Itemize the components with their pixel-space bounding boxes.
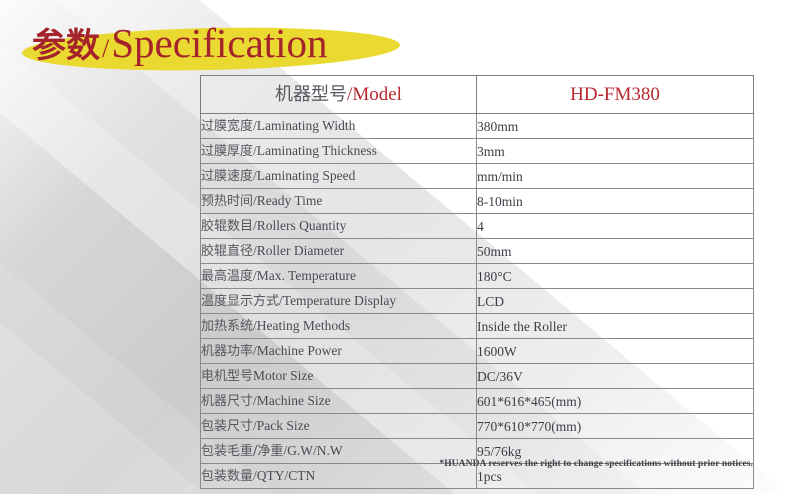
- table-header-row: 机器型号/Model HD-FM380: [201, 76, 754, 114]
- table-row-label-cell: 过膜厚度/Laminating Thickness: [201, 139, 477, 164]
- table-row-label-english: /Laminating Thickness: [253, 143, 377, 158]
- table-row-value-cell: 8-10min: [477, 189, 754, 214]
- table-row: 预热时间/Ready Time8-10min: [201, 189, 754, 214]
- table-row-label-english: /Temperature Display: [279, 293, 396, 308]
- table-row-label-english: /Max. Temperature: [253, 268, 356, 283]
- footnote-disclaimer: *HUANDA reserves the right to change spe…: [200, 459, 753, 469]
- table-row: 机器尺寸/Machine Size601*616*465(mm): [201, 389, 754, 414]
- table-row-label-english: /Roller Diameter: [253, 243, 344, 258]
- table-row: 过膜速度/Laminating Speedmm/min: [201, 164, 754, 189]
- table-row: 机器功率/Machine Power1600W: [201, 339, 754, 364]
- table-row-value-cell: 50mm: [477, 239, 754, 264]
- title-text-chinese: 参数: [32, 26, 100, 66]
- table-row-label-english: /Heating Methods: [253, 318, 350, 333]
- table-header-label-cell: 机器型号/Model: [201, 76, 477, 114]
- table-header-label-chinese: 机器型号: [275, 84, 347, 105]
- table-row-label-english: /Machine Power: [253, 343, 342, 358]
- table-row-label-english: /G.W/N.W: [283, 443, 342, 458]
- table-row-label-cell: 机器功率/Machine Power: [201, 339, 477, 364]
- table-row-label-chinese: 加热系统: [201, 319, 253, 334]
- table-row-value-cell: mm/min: [477, 164, 754, 189]
- table-row-label-cell: 胶辊直径/Roller Diameter: [201, 239, 477, 264]
- table-row-label-english: /QTY/CTN: [253, 468, 315, 483]
- table-row-label-chinese: 机器功率: [201, 344, 253, 359]
- table-row-value-cell: 601*616*465(mm): [477, 389, 754, 414]
- slide-canvas: 参数/Specification 机器型号/Model HD-FM380 过膜宽…: [0, 0, 785, 494]
- title-text: 参数/Specification: [32, 20, 328, 72]
- table-row: 加热系统/Heating MethodsInside the Roller: [201, 314, 754, 339]
- table-row-value-cell: 3mm: [477, 139, 754, 164]
- table-row-label-chinese: 最高温度: [201, 269, 253, 284]
- table-row-label-chinese: 包装毛重/净重: [201, 444, 283, 459]
- table-row: 温度显示方式/Temperature DisplayLCD: [201, 289, 754, 314]
- table-row: 胶辊数目/Rollers Quantity4: [201, 214, 754, 239]
- table-row-value-cell: 380mm: [477, 114, 754, 139]
- table-row-label-chinese: 机器尺寸: [201, 394, 253, 409]
- table-row-label-chinese: 包装数量: [201, 469, 253, 484]
- table-row-label-cell: 电机型号Motor Size: [201, 364, 477, 389]
- table-row-label-english: /Rollers Quantity: [253, 218, 346, 233]
- table-row: 包装尺寸/Pack Size770*610*770(mm): [201, 414, 754, 439]
- table-row-label-english: /Laminating Speed: [253, 168, 355, 183]
- table-row-value-cell: 1600W: [477, 339, 754, 364]
- table-row-label-cell: 温度显示方式/Temperature Display: [201, 289, 477, 314]
- table-row-label-english: /Laminating Width: [253, 118, 355, 133]
- table-row-value-cell: 770*610*770(mm): [477, 414, 754, 439]
- table-row: 电机型号Motor SizeDC/36V: [201, 364, 754, 389]
- specification-table: 机器型号/Model HD-FM380 过膜宽度/Laminating Widt…: [200, 75, 754, 489]
- table-row: 胶辊直径/Roller Diameter50mm: [201, 239, 754, 264]
- page-title: 参数/Specification: [16, 14, 416, 70]
- table-row-label-chinese: 胶辊直径: [201, 244, 253, 259]
- table-row: 最高温度/Max. Temperature180°C: [201, 264, 754, 289]
- table-row-label-cell: 包装尺寸/Pack Size: [201, 414, 477, 439]
- table-row: 过膜宽度/Laminating Width380mm: [201, 114, 754, 139]
- table-row-label-cell: 过膜宽度/Laminating Width: [201, 114, 477, 139]
- table-row-value-cell: DC/36V: [477, 364, 754, 389]
- table-row-value-cell: Inside the Roller: [477, 314, 754, 339]
- table-row-label-chinese: 温度显示方式: [201, 294, 279, 309]
- table-row-label-cell: 胶辊数目/Rollers Quantity: [201, 214, 477, 239]
- table-row-label-cell: 机器尺寸/Machine Size: [201, 389, 477, 414]
- table-row-label-cell: 加热系统/Heating Methods: [201, 314, 477, 339]
- table-row-label-chinese: 电机型号: [201, 369, 253, 384]
- table-header-label-english: Model: [352, 84, 402, 105]
- table-row-label-english: /Ready Time: [253, 193, 322, 208]
- table-row-label-english: Motor Size: [253, 368, 313, 383]
- table-row: 过膜厚度/Laminating Thickness3mm: [201, 139, 754, 164]
- table-row-label-english: /Pack Size: [253, 418, 310, 433]
- table-row-label-chinese: 胶辊数目: [201, 219, 253, 234]
- table-row-label-cell: 过膜速度/Laminating Speed: [201, 164, 477, 189]
- table-row-value-cell: 4: [477, 214, 754, 239]
- table-row-value-cell: 180°C: [477, 264, 754, 289]
- table-row-label-chinese: 包装尺寸: [201, 419, 253, 434]
- table-row-label-chinese: 过膜厚度: [201, 144, 253, 159]
- table-row-label-cell: 预热时间/Ready Time: [201, 189, 477, 214]
- table-row-label-english: /Machine Size: [253, 393, 331, 408]
- title-separator: /: [100, 34, 111, 63]
- table-row-label-chinese: 过膜宽度: [201, 119, 253, 134]
- title-text-english: Specification: [111, 20, 327, 66]
- table-row-label-cell: 最高温度/Max. Temperature: [201, 264, 477, 289]
- table-row-label-chinese: 过膜速度: [201, 169, 253, 184]
- table-header-value-cell: HD-FM380: [477, 76, 754, 114]
- table-row-label-chinese: 预热时间: [201, 194, 253, 209]
- table-row-value-cell: LCD: [477, 289, 754, 314]
